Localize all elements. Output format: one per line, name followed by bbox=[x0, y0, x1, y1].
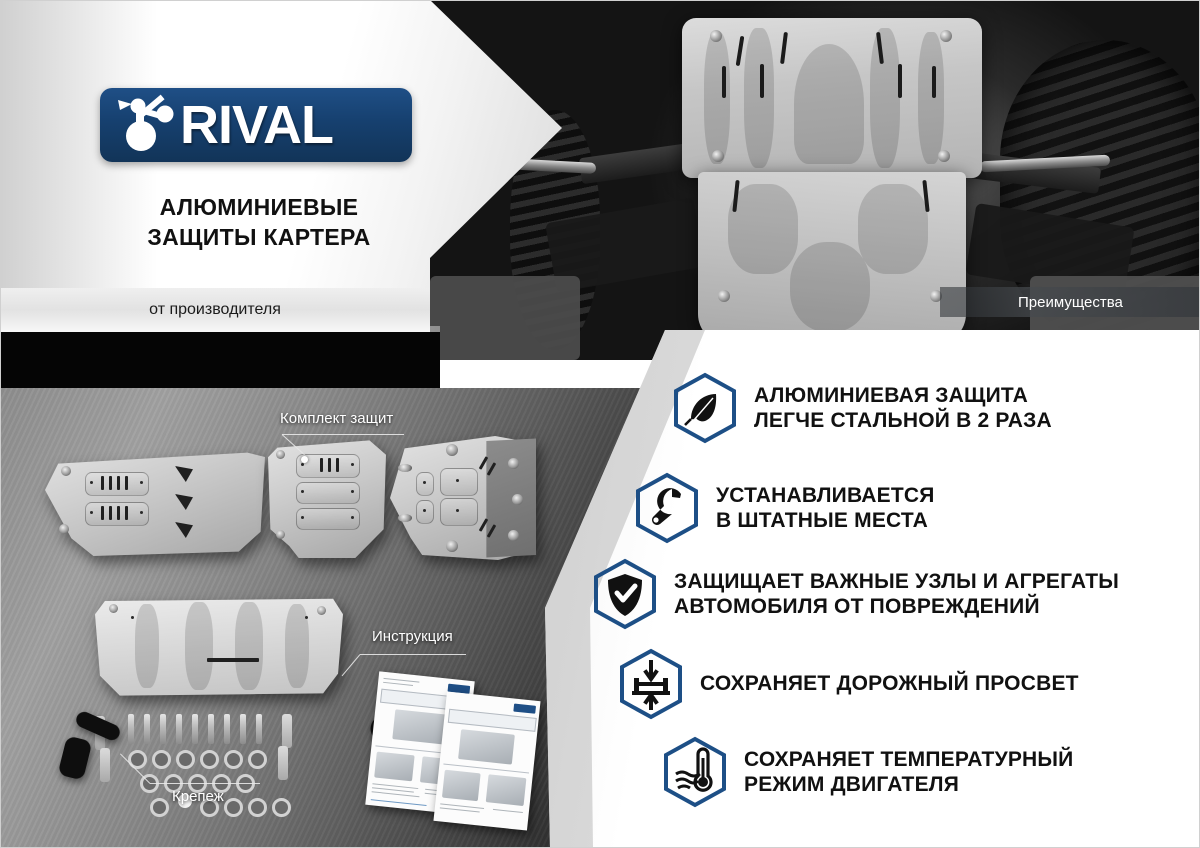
skid-plate-4 bbox=[95, 590, 343, 700]
feature-item-2: УСТАНАВЛИВАЕТСЯ В ШТАТНЫЕ МЕСТА bbox=[634, 472, 935, 544]
feature-2-line1: УСТАНАВЛИВАЕТСЯ bbox=[716, 484, 935, 507]
feature-5-line1: СОХРАНЯЕТ ТЕМПЕРАТУРНЫЙ bbox=[744, 748, 1073, 771]
callout-underline-kit bbox=[282, 434, 404, 435]
installed-skid-plate-front bbox=[682, 18, 982, 178]
callout-underline-instruction bbox=[360, 654, 466, 655]
feature-5-text: СОХРАНЯЕТ ТЕМПЕРАТУРНЫЙ РЕЖИМ ДВИГАТЕЛЯ bbox=[744, 747, 1073, 797]
installed-skid-plate-rear bbox=[698, 172, 966, 344]
shield-check-icon bbox=[592, 558, 658, 630]
feature-item-5: СОХРАНЯЕТ ТЕМПЕРАТУРНЫЙ РЕЖИМ ДВИГАТЕЛЯ bbox=[662, 736, 1073, 808]
feature-2-line2: В ШТАТНЫЕ МЕСТА bbox=[716, 508, 935, 533]
feature-4-line1: СОХРАНЯЕТ ДОРОЖНЫЙ ПРОСВЕТ bbox=[700, 672, 1079, 695]
promo-banner: Преимущества RIVAL АЛЮМИНИЕВЫЕ ЗАЩИТЫ КА… bbox=[0, 0, 1200, 848]
callout-label-instruction: Инструкция bbox=[372, 628, 453, 645]
feature-5-line2: РЕЖИМ ДВИГАТЕЛЯ bbox=[744, 772, 1073, 797]
feature-1-line2: ЛЕГЧЕ СТАЛЬНОЙ В 2 РАЗА bbox=[754, 408, 1052, 433]
mount-bracket-left-arm bbox=[58, 735, 93, 780]
thermometer-icon bbox=[662, 736, 728, 808]
callout-underline-fasteners bbox=[150, 783, 260, 784]
skid-plate-3 bbox=[390, 436, 536, 560]
hero-dark-band bbox=[0, 332, 440, 388]
feature-3-line1: ЗАЩИЩАЕТ ВАЖНЫЕ УЗЛЫ И АГРЕГАТЫ bbox=[674, 570, 1119, 593]
feature-item-1: АЛЮМИНИЕВАЯ ЗАЩИТА ЛЕГЧЕ СТАЛЬНОЙ В 2 РА… bbox=[672, 372, 1052, 444]
advantages-ribbon: Преимущества bbox=[940, 287, 1200, 317]
feature-4-text: СОХРАНЯЕТ ДОРОЖНЫЙ ПРОСВЕТ bbox=[700, 671, 1079, 696]
rival-logo: RIVAL bbox=[100, 88, 412, 162]
bumper-block bbox=[430, 276, 580, 360]
skid-plate-1 bbox=[45, 446, 265, 556]
feature-3-line2: АВТОМОБИЛЯ ОТ ПОВРЕЖДЕНИЙ bbox=[674, 594, 1119, 619]
feature-2-text: УСТАНАВЛИВАЕТСЯ В ШТАТНЫЕ МЕСТА bbox=[716, 483, 935, 533]
title-line-2: ЗАЩИТЫ КАРТЕРА bbox=[100, 222, 418, 252]
title-line-1: АЛЮМИНИЕВЫЕ bbox=[100, 192, 418, 222]
logo-wordmark: RIVAL bbox=[180, 98, 333, 152]
callout-label-kit: Комплект защит bbox=[280, 410, 393, 427]
feature-1-text: АЛЮМИНИЕВАЯ ЗАЩИТА ЛЕГЧЕ СТАЛЬНОЙ В 2 РА… bbox=[754, 383, 1052, 433]
wrench-icon bbox=[634, 472, 700, 544]
feature-item-4: СОХРАНЯЕТ ДОРОЖНЫЙ ПРОСВЕТ bbox=[618, 648, 1079, 720]
page-title: АЛЮМИНИЕВЫЕ ЗАЩИТЫ КАРТЕРА bbox=[100, 192, 418, 253]
feature-3-text: ЗАЩИЩАЕТ ВАЖНЫЕ УЗЛЫ И АГРЕГАТЫ АВТОМОБИ… bbox=[674, 569, 1119, 619]
ground-clearance-icon bbox=[618, 648, 684, 720]
molecule-icon bbox=[110, 94, 182, 156]
feature-1-line1: АЛЮМИНИЕВАЯ ЗАЩИТА bbox=[754, 384, 1028, 407]
instruction-sheet-2 bbox=[433, 691, 540, 830]
callout-dot-kit bbox=[301, 456, 308, 463]
skid-plate-2 bbox=[268, 438, 386, 558]
callout-label-fasteners: Крепеж bbox=[172, 788, 224, 805]
leaf-icon bbox=[672, 372, 738, 444]
subtitle-bar: от производителя bbox=[0, 288, 430, 332]
feature-item-3: ЗАЩИЩАЕТ ВАЖНЫЕ УЗЛЫ И АГРЕГАТЫ АВТОМОБИ… bbox=[592, 558, 1119, 630]
advantages-label: Преимущества bbox=[1018, 294, 1123, 311]
subtitle-text: от производителя bbox=[149, 301, 281, 319]
callout-leader-instruction bbox=[342, 654, 361, 676]
